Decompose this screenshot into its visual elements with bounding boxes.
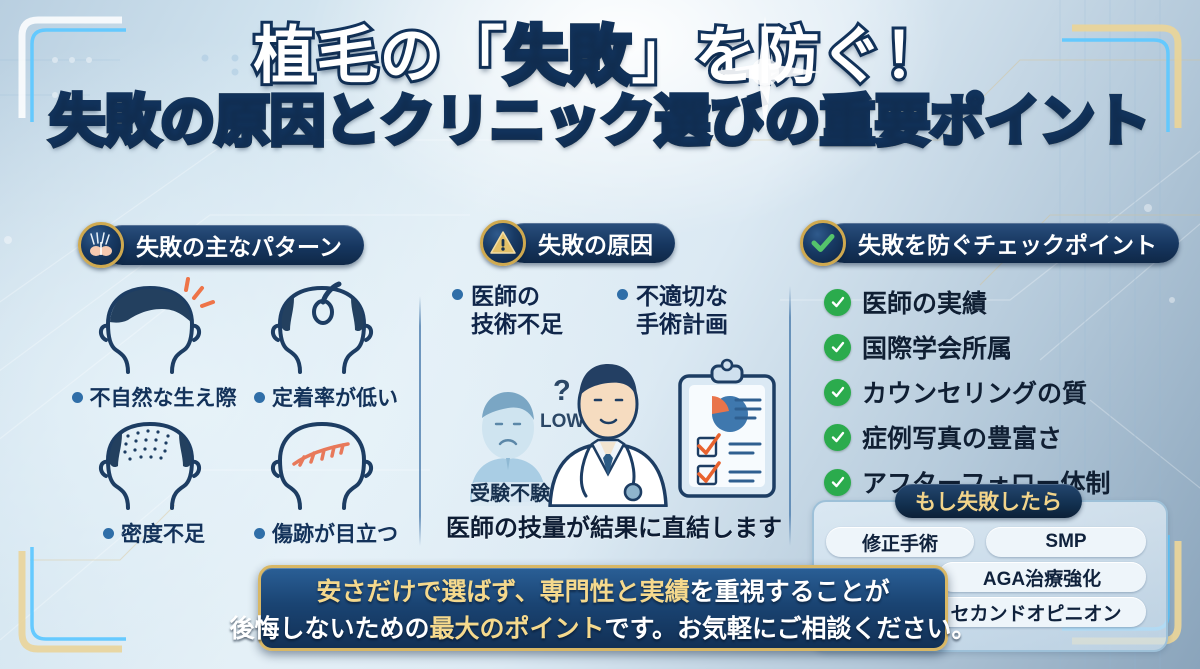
title-part-b: 」を防ぐ！ [632,22,947,91]
pattern-item-3: 傷跡が目立つ [242,412,410,548]
question-mark-label: ? [553,375,571,407]
pattern-text-2: 密度不足 [121,518,205,548]
cause-text-1-line2: 手術計画 [636,311,728,337]
cause-text-1-line1: 不適切な [636,283,728,309]
cause-text-0-line2: 技術不足 [471,311,563,337]
checkpoint-text-2: カウンセリングの質 [862,374,1087,410]
section-header-checkpoints: 失敗を防ぐチェックポイント [800,220,1179,266]
pattern-text-3: 傷跡が目立つ [272,518,398,548]
checkpoint-text-3: 症例写真の豊富さ [862,419,1062,455]
check-mark-icon [824,424,851,451]
cause-text-0-line1: 医師の [471,283,540,309]
check-mark-icon [824,469,851,496]
novice-label: 受験不験 [470,481,551,505]
bullet-dot [72,392,83,403]
head-low-graft-survival-icon [260,276,392,380]
bullet-dot [254,392,265,403]
check-mark-icon [824,289,851,316]
banner-line-1-white: を重視することが [690,578,890,606]
bottom-message-banner: 安さだけで選ばず、専門性と実績を重視することが 後悔しないための最大のポイントで… [258,565,948,651]
head-unnatural-hairline-icon [88,276,220,380]
warning-triangle-icon [480,220,526,266]
banner-line-2: 後悔しないための最大のポイントです。お気軽にご相談ください。 [229,609,976,645]
fallback-option-0[interactable]: 修正手術 [826,527,974,557]
section-title-causes: 失敗の原因 [504,223,675,263]
infographic-canvas: 植毛の「失敗」を防ぐ！ 失敗の原因とクリニック選びの重要ポイント 失敗の主なパタ… [0,0,1200,669]
cause-text-1: 不適切な 手術計画 [636,282,728,338]
check-circle-icon [800,220,846,266]
checkpoint-item-1: 国際学会所属 [824,329,1111,365]
checkpoint-list: 医師の実績 国際学会所属 カウンセリングの質 症例写真の豊富さ アフターフォロー… [824,284,1111,500]
bullet-dot [617,289,628,300]
page-title-line1: 植毛の「失敗」を防ぐ！ [0,24,1200,89]
banner-line-2-gold: 最大のポイント [430,615,605,643]
checkpoint-item-0: 医師の実績 [824,284,1111,320]
pattern-text-1: 定着率が低い [272,382,398,412]
cause-item-1: 不適切な 手術計画 [617,282,728,338]
banner-line-2-white-b: です。お気軽にご相談ください。 [605,615,977,643]
banner-line-1: 安さだけで選ばず、専門性と実績を重視することが [316,572,889,608]
section-header-patterns: 失敗の主なパターン [78,222,364,268]
banner-line-2-white-a: 後悔しないための [229,615,429,643]
pattern-label-0: 不自然な生え際 [72,382,237,412]
cause-item-0: 医師の 技術不足 [452,282,563,338]
pattern-item-0: 不自然な生え際 [70,276,238,412]
fallback-option-1[interactable]: SMP [986,527,1146,557]
page-subtitle: 失敗の原因とクリニック選びの重要ポイント [0,93,1200,151]
pattern-item-1: 定着率が低い [242,276,410,412]
checkpoint-text-0: 医師の実績 [862,284,987,320]
banner-line-1-gold-b: 専門性と実績 [540,578,690,606]
head-visible-scar-icon [260,412,392,516]
pattern-text-0: 不自然な生え際 [90,382,237,412]
divider-right [789,286,791,546]
causes-caption: 医師の技量が結果に直結します [440,508,788,543]
novice-figure-icon: 受験不験 [470,392,551,506]
bullet-dot [452,289,463,300]
head-low-density-icon [88,412,220,516]
checkpoint-text-1: 国際学会所属 [862,329,1012,365]
banner-line-1-gold-a: 安さだけで選ばず、 [316,578,539,606]
corner-bracket-bottom-left [14,539,134,659]
cause-list: 医師の 技術不足 不適切な 手術計画 [452,282,728,338]
bullet-dot [254,528,265,539]
fallback-option-2[interactable]: AGA治療強化 [938,562,1146,592]
divider-left [419,296,421,546]
title-highlight-failure: 失敗 [505,22,631,91]
hair-graft-icon [78,222,124,268]
pattern-grid: 不自然な生え際 定着率が低い [70,276,410,548]
check-mark-icon [824,334,851,361]
pattern-item-2: 密度不足 [70,412,238,548]
section-title-patterns: 失敗の主なパターン [102,225,364,265]
fallback-title: もし失敗したら [895,484,1082,518]
low-label: LOW [540,411,584,432]
clipboard-chart-icon [680,360,774,496]
section-title-checkpoints: 失敗を防ぐチェックポイント [824,223,1179,263]
checkpoint-item-3: 症例写真の豊富さ [824,419,1111,455]
cause-text-0: 医師の 技術不足 [471,282,563,338]
check-mark-icon [824,379,851,406]
title-part-a: 植毛の「 [253,22,505,91]
pattern-label-3: 傷跡が目立つ [254,518,398,548]
pattern-label-1: 定着率が低い [254,382,398,412]
checkpoint-item-2: カウンセリングの質 [824,374,1111,410]
bullet-dot [103,528,114,539]
section-header-causes: 失敗の原因 [480,220,675,266]
doctor-illustration: 受験不験 ? LOW [440,352,788,507]
pattern-label-2: 密度不足 [103,518,205,548]
title-block: 植毛の「失敗」を防ぐ！ 失敗の原因とクリニック選びの重要ポイント [0,24,1200,151]
